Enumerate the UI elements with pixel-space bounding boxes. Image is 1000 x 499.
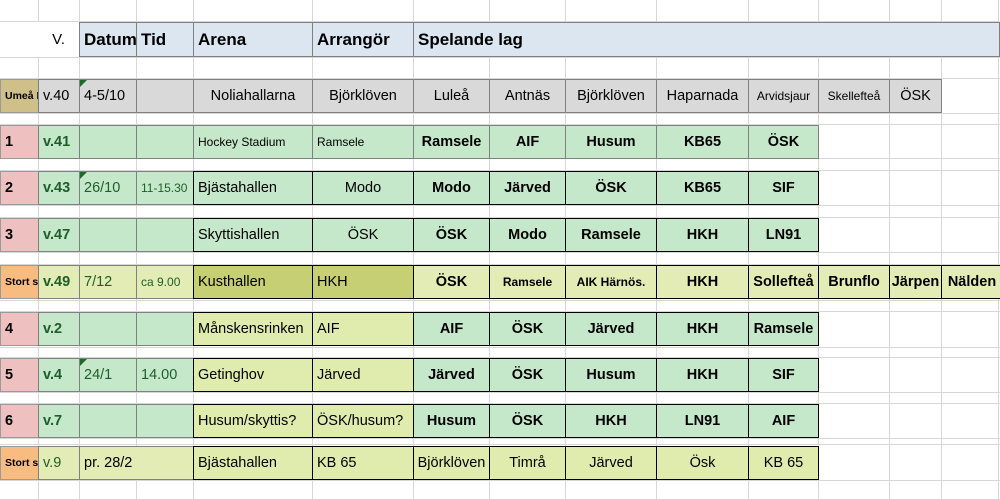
row-arena: Skyttishallen [193, 218, 313, 252]
row-team: Järved [565, 446, 657, 480]
row-team: Haparnada [656, 79, 749, 113]
row-team: AIF [489, 125, 566, 159]
row-datum-text: 24/1 [84, 368, 112, 383]
row-arrangor: HKH [312, 265, 414, 299]
gridline-h [0, 113, 1000, 114]
row-team: AIF [748, 404, 819, 438]
gridline-h [0, 205, 1000, 206]
row-datum [79, 312, 137, 346]
row-team: ÖSK [489, 404, 566, 438]
row-team: ÖSK [413, 218, 490, 252]
row-tag: Stort sam [0, 446, 39, 480]
row-tid [136, 79, 194, 113]
row-datum-text: 26/10 [84, 181, 120, 196]
row-datum: 7/12 [79, 265, 137, 299]
header-tid: Tid [136, 22, 194, 57]
row-team: Brunflo [818, 265, 890, 299]
row-tag: Stort sam [0, 265, 39, 299]
row-arrangor: Modo [312, 171, 414, 205]
row-team: Järved [413, 358, 490, 392]
row-team: Björklöven [413, 446, 490, 480]
row-team: HKH [656, 312, 749, 346]
row-tid [136, 218, 194, 252]
row-tag: 1 [0, 125, 39, 159]
row-team: Ösk [656, 446, 749, 480]
row-team: ÖSK [489, 358, 566, 392]
header-vecka-label: V. [38, 22, 79, 57]
header-arena: Arena [193, 22, 313, 57]
row-team: ÖSK [889, 79, 942, 113]
row-team: KB65 [656, 125, 749, 159]
row-tag: Umeå En [0, 79, 39, 113]
row-arrangor: ÖSK/husum? [312, 404, 414, 438]
row-team: Järved [489, 171, 566, 205]
row-datum: 26/10 [79, 171, 137, 205]
gridline-h [0, 438, 1000, 439]
row-arrangor: Ramsele [312, 125, 414, 159]
row-team: HKH [565, 404, 657, 438]
row-datum [79, 218, 137, 252]
row-datum: 24/1 [79, 358, 137, 392]
row-team: Skellefteå [818, 79, 890, 113]
row-vecka: v.7 [38, 404, 80, 438]
row-arena: Bjästahallen [193, 171, 313, 205]
row-arena: Getinghov [193, 358, 313, 392]
row-team: LN91 [748, 218, 819, 252]
row-vecka: v.43 [38, 171, 80, 205]
gridline-h [0, 444, 1000, 445]
row-arena: Kusthallen [193, 265, 313, 299]
row-tid: 14.00 [136, 358, 194, 392]
row-vecka: v.40 [38, 79, 80, 113]
header-arrangor: Arrangör [312, 22, 414, 57]
row-arena: Månskensrinken [193, 312, 313, 346]
header-spelande-lag: Spelande lag [413, 22, 1000, 57]
row-datum: pr. 28/2 [79, 446, 194, 480]
gridline-h [0, 252, 1000, 253]
gridline-v [998, 0, 999, 499]
row-team: ÖSK [748, 125, 819, 159]
row-datum-text: 4-5/10 [84, 89, 125, 104]
row-team: Modo [489, 218, 566, 252]
row-vecka: v.9 [38, 446, 80, 480]
row-arena: Hockey Stadium [193, 125, 313, 159]
comment-marker-icon [80, 80, 87, 87]
gridline-h [0, 392, 1000, 393]
row-tid [136, 404, 194, 438]
gridline-h [0, 57, 1000, 58]
row-team: Ramsele [489, 265, 566, 299]
row-tag: 3 [0, 218, 39, 252]
row-vecka: v.49 [38, 265, 80, 299]
row-tid [136, 125, 194, 159]
row-team: LN91 [656, 404, 749, 438]
row-tid [136, 312, 194, 346]
row-datum: 4-5/10 [79, 79, 137, 113]
row-vecka: v.4 [38, 358, 80, 392]
row-tag: 4 [0, 312, 39, 346]
gridline-h [0, 347, 1000, 348]
row-team: AIK Härnös. [565, 265, 657, 299]
row-team: SIF [748, 358, 819, 392]
row-team: Ramsele [413, 125, 490, 159]
row-arrangor: Björklöven [312, 79, 414, 113]
row-team: Ramsele [565, 218, 657, 252]
gridline-h [0, 300, 1000, 301]
row-arrangor: ÖSK [312, 218, 414, 252]
row-team: HKH [656, 265, 749, 299]
row-tag: 2 [0, 171, 39, 205]
row-datum [79, 404, 137, 438]
row-arena: Bjästahallen [193, 446, 313, 480]
row-team: Järpen [889, 265, 942, 299]
row-team: Luleå [413, 79, 490, 113]
row-team: Timrå [489, 446, 566, 480]
row-datum [79, 125, 137, 159]
row-team: Husum [565, 125, 657, 159]
spreadsheet-canvas: V. Datum Tid Arena Arrangör Spelande lag… [0, 0, 1000, 499]
header-datum: Datum [79, 22, 137, 57]
row-arrangor: KB 65 [312, 446, 414, 480]
row-team: KB65 [656, 171, 749, 205]
row-team: ÖSK [565, 171, 657, 205]
row-vecka: v.41 [38, 125, 80, 159]
row-team: Ramsele [748, 312, 819, 346]
row-team: ÖSK [489, 312, 566, 346]
row-team: Antnäs [489, 79, 566, 113]
row-tid: 11-15.30 [136, 171, 194, 205]
row-arrangor: AIF [312, 312, 414, 346]
comment-marker-icon [80, 172, 87, 179]
row-arena: Husum/skyttis? [193, 404, 313, 438]
row-arrangor: Järved [312, 358, 414, 392]
row-team: Arvidsjaur [748, 79, 819, 113]
row-tag: 6 [0, 404, 39, 438]
row-team: ÖSK [413, 265, 490, 299]
gridline-h [0, 480, 1000, 481]
row-vecka: v.47 [38, 218, 80, 252]
row-team: SIF [748, 171, 819, 205]
row-tid: ca 9.00 [136, 265, 194, 299]
gridline-v [941, 0, 942, 499]
row-team: AIF [413, 312, 490, 346]
row-vecka: v.2 [38, 312, 80, 346]
row-team: Husum [413, 404, 490, 438]
row-team: KB 65 [748, 446, 819, 480]
row-team: Husum [565, 358, 657, 392]
comment-marker-icon [80, 359, 87, 366]
row-team: HKH [656, 218, 749, 252]
row-team: Modo [413, 171, 490, 205]
row-team: HKH [656, 358, 749, 392]
row-tag: 5 [0, 358, 39, 392]
row-arena: Noliahallarna [193, 79, 313, 113]
row-team: Björklöven [565, 79, 657, 113]
row-team: Nälden [941, 265, 1000, 299]
gridline-v [889, 0, 890, 499]
row-team: Sollefteå [748, 265, 819, 299]
row-team: Järved [565, 312, 657, 346]
